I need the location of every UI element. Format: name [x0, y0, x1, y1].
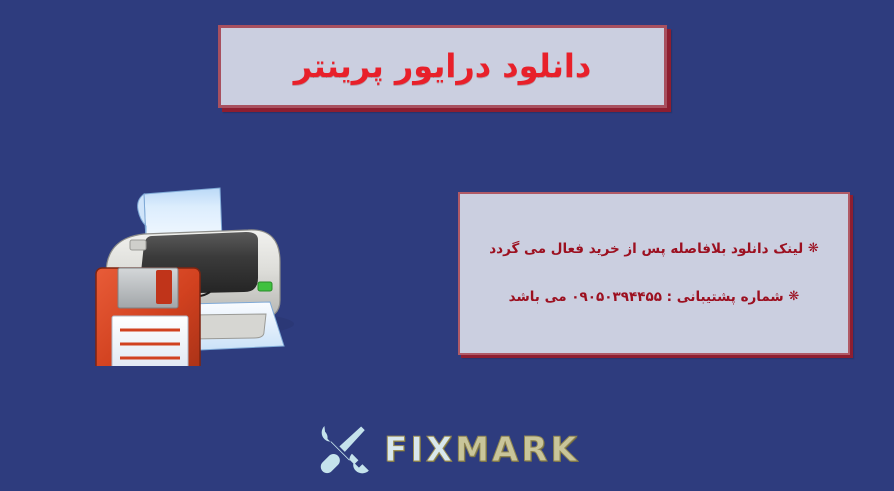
info-line-1-text: لینک دانلود بلافاصله پس از خرید فعال می … [489, 241, 803, 257]
title-box: دانلود درایور پرینتر [218, 25, 667, 108]
page-title: دانلود درایور پرینتر [294, 48, 592, 85]
bullet-star-icon-2: ❋ [788, 289, 799, 304]
bullet-star-icon: ❋ [808, 241, 819, 256]
printer-icon [88, 176, 303, 366]
logo-word-mark: MARK [455, 433, 580, 467]
printer-driver-illustration [88, 176, 303, 366]
info-line-2-text: شماره پشتیبانی : ۰۹۰۵۰۳۹۴۴۵۵ می باشد [509, 289, 784, 305]
wrench-screwdriver-icon [314, 421, 372, 479]
info-line-support-phone: ❋ شماره پشتیبانی : ۰۹۰۵۰۳۹۴۴۵۵ می باشد [509, 289, 800, 307]
logo-wordmark: FIX MARK [384, 433, 580, 467]
brand-logo: FIX MARK [0, 414, 894, 486]
promo-banner: دانلود درایور پرینتر [0, 0, 894, 491]
info-box: ❋ لینک دانلود بلافاصله پس از خرید فعال م… [458, 192, 850, 355]
logo-word-fix: FIX [384, 433, 455, 467]
info-line-download-activation: ❋ لینک دانلود بلافاصله پس از خرید فعال م… [489, 241, 819, 259]
floppy-disk-icon [96, 268, 200, 366]
